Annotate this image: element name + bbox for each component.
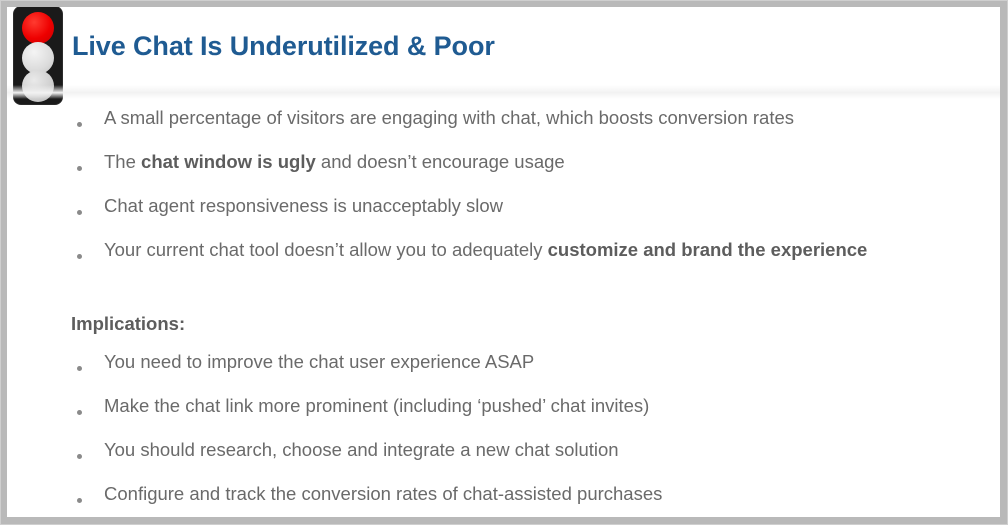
- bullet-text: Configure and track the conversion rates…: [71, 483, 662, 505]
- implications-heading: Implications:: [7, 307, 1000, 351]
- bullet-dot-icon: [77, 454, 82, 459]
- bullet-text: Chat agent responsiveness is unacceptabl…: [71, 195, 503, 217]
- bullet-chat-link-prominent: Make the chat link more prominent (inclu…: [7, 395, 1000, 439]
- slide-canvas: Live Chat Is Underutilized & Poor A smal…: [7, 7, 1000, 517]
- bullet-run: and doesn’t encourage usage: [316, 151, 565, 172]
- bullet-text: A small percentage of visitors are engag…: [71, 107, 794, 129]
- bullet-dot-icon: [77, 366, 82, 371]
- bullet-dot-icon: [77, 122, 82, 127]
- bullet-run: You should research, choose and integrat…: [104, 439, 619, 460]
- bullet-track-conversion-rates: Configure and track the conversion rates…: [7, 483, 1000, 517]
- bullet-text: The chat window is ugly and doesn’t enco…: [71, 151, 565, 173]
- bullet-new-chat-solution: You should research, choose and integrat…: [7, 439, 1000, 483]
- bullet-customize-brand: Your current chat tool doesn’t allow you…: [7, 239, 1000, 283]
- bullet-dot-icon: [77, 210, 82, 215]
- slide-frame: Live Chat Is Underutilized & Poor A smal…: [0, 0, 1008, 525]
- slide-body: A small percentage of visitors are engag…: [7, 107, 1000, 517]
- bullet-text: You should research, choose and integrat…: [71, 439, 619, 461]
- bullet-run: The: [104, 151, 141, 172]
- bullet-run: Chat agent responsiveness is unacceptabl…: [104, 195, 503, 216]
- bullet-run: A small percentage of visitors are engag…: [104, 107, 794, 128]
- bullet-run: Your current chat tool doesn’t allow you…: [104, 239, 548, 260]
- slide-title: Live Chat Is Underutilized & Poor: [72, 31, 495, 62]
- bullet-run: Make the chat link more prominent (inclu…: [104, 395, 649, 416]
- body-spacer: [7, 283, 1000, 307]
- bullet-text: Make the chat link more prominent (inclu…: [71, 395, 649, 417]
- bullet-dot-icon: [77, 254, 82, 259]
- bullet-agent-responsiveness: Chat agent responsiveness is unacceptabl…: [7, 195, 1000, 239]
- bullet-run: You need to improve the chat user experi…: [104, 351, 534, 372]
- bullet-text: You need to improve the chat user experi…: [71, 351, 534, 373]
- bullet-dot-icon: [77, 498, 82, 503]
- section-heading-label: Implications:: [71, 313, 185, 334]
- bullet-chat-engagement: A small percentage of visitors are engag…: [7, 107, 1000, 151]
- bullet-emphasis: customize and brand the experience: [548, 239, 868, 260]
- bullet-run: Configure and track the conversion rates…: [104, 483, 662, 504]
- bullet-dot-icon: [77, 410, 82, 415]
- bullet-chat-window-ugly: The chat window is ugly and doesn’t enco…: [7, 151, 1000, 195]
- bullet-improve-ux-asap: You need to improve the chat user experi…: [7, 351, 1000, 395]
- title-divider: [7, 85, 1000, 99]
- bullet-emphasis: chat window is ugly: [141, 151, 316, 172]
- bullet-dot-icon: [77, 166, 82, 171]
- red-lamp-icon: [22, 12, 54, 44]
- bullet-text: Your current chat tool doesn’t allow you…: [71, 239, 867, 261]
